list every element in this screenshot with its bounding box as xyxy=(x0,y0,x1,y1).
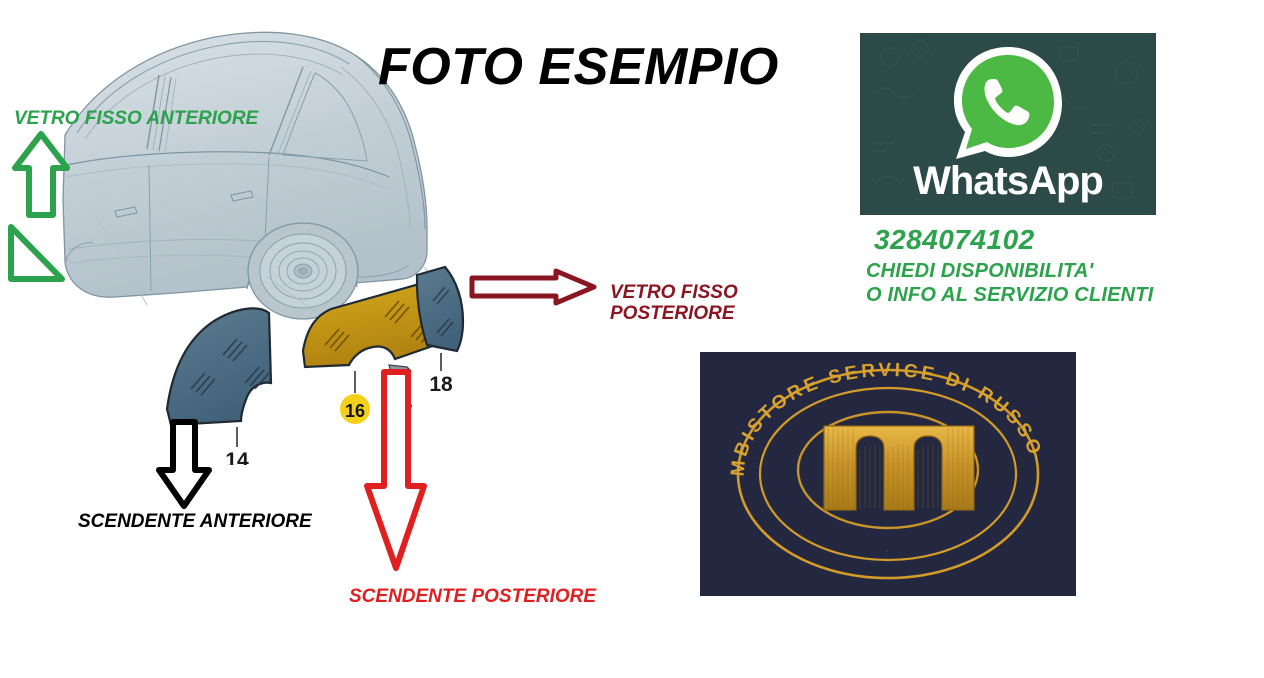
contact-block: 3284074102 CHIEDI DISPONIBILITA' O INFO … xyxy=(866,224,1196,307)
logo-subtext: . xyxy=(887,547,890,553)
whatsapp-wordmark: WhatsApp xyxy=(860,159,1156,204)
whatsapp-phone-bubble-icon xyxy=(946,41,1070,165)
company-logo-plate: MRICAMBISTORE SERVICE DI RUSSO MARCO . xyxy=(700,352,1076,596)
logo-ring-text: MRICAMBISTORE SERVICE DI RUSSO MARCO xyxy=(700,352,1048,477)
whatsapp-banner: WhatsApp xyxy=(860,33,1156,215)
screenshot-canvas: 14 16 17 18 xyxy=(0,0,1264,678)
red-long-down-arrow-icon xyxy=(362,368,428,574)
part-number-18: 18 xyxy=(429,373,453,396)
logo-monogram xyxy=(824,426,974,510)
green-triangle-icon xyxy=(6,222,66,284)
contact-line-availability: CHIEDI DISPONIBILITA' xyxy=(866,260,1196,283)
contact-line-customer-service: O INFO AL SERVIZIO CLIENTI xyxy=(866,284,1196,307)
black-down-arrow-icon xyxy=(155,418,213,510)
label-vetro-fisso-posteriore: VETRO FISSO POSTERIORE xyxy=(610,282,738,325)
label-vetro-fisso-posteriore-line2: POSTERIORE xyxy=(610,303,738,324)
label-vetro-fisso-posteriore-line1: VETRO FISSO xyxy=(610,282,738,303)
green-up-arrow-icon xyxy=(10,130,72,220)
label-scendente-posteriore: SCENDENTE POSTERIORE xyxy=(349,586,596,607)
label-scendente-anteriore: SCENDENTE ANTERIORE xyxy=(78,511,312,532)
car-body-illustration xyxy=(63,32,427,319)
label-vetro-fisso-anteriore: VETRO FISSO ANTERIORE xyxy=(14,108,258,129)
dark-red-right-arrow-icon xyxy=(468,268,598,306)
mricambistore-logo: MRICAMBISTORE SERVICE DI RUSSO MARCO . xyxy=(700,352,1076,596)
page-title: FOTO ESEMPIO xyxy=(378,37,779,97)
contact-phone-number[interactable]: 3284074102 xyxy=(874,224,1196,256)
part-number-14: 14 xyxy=(225,449,249,465)
